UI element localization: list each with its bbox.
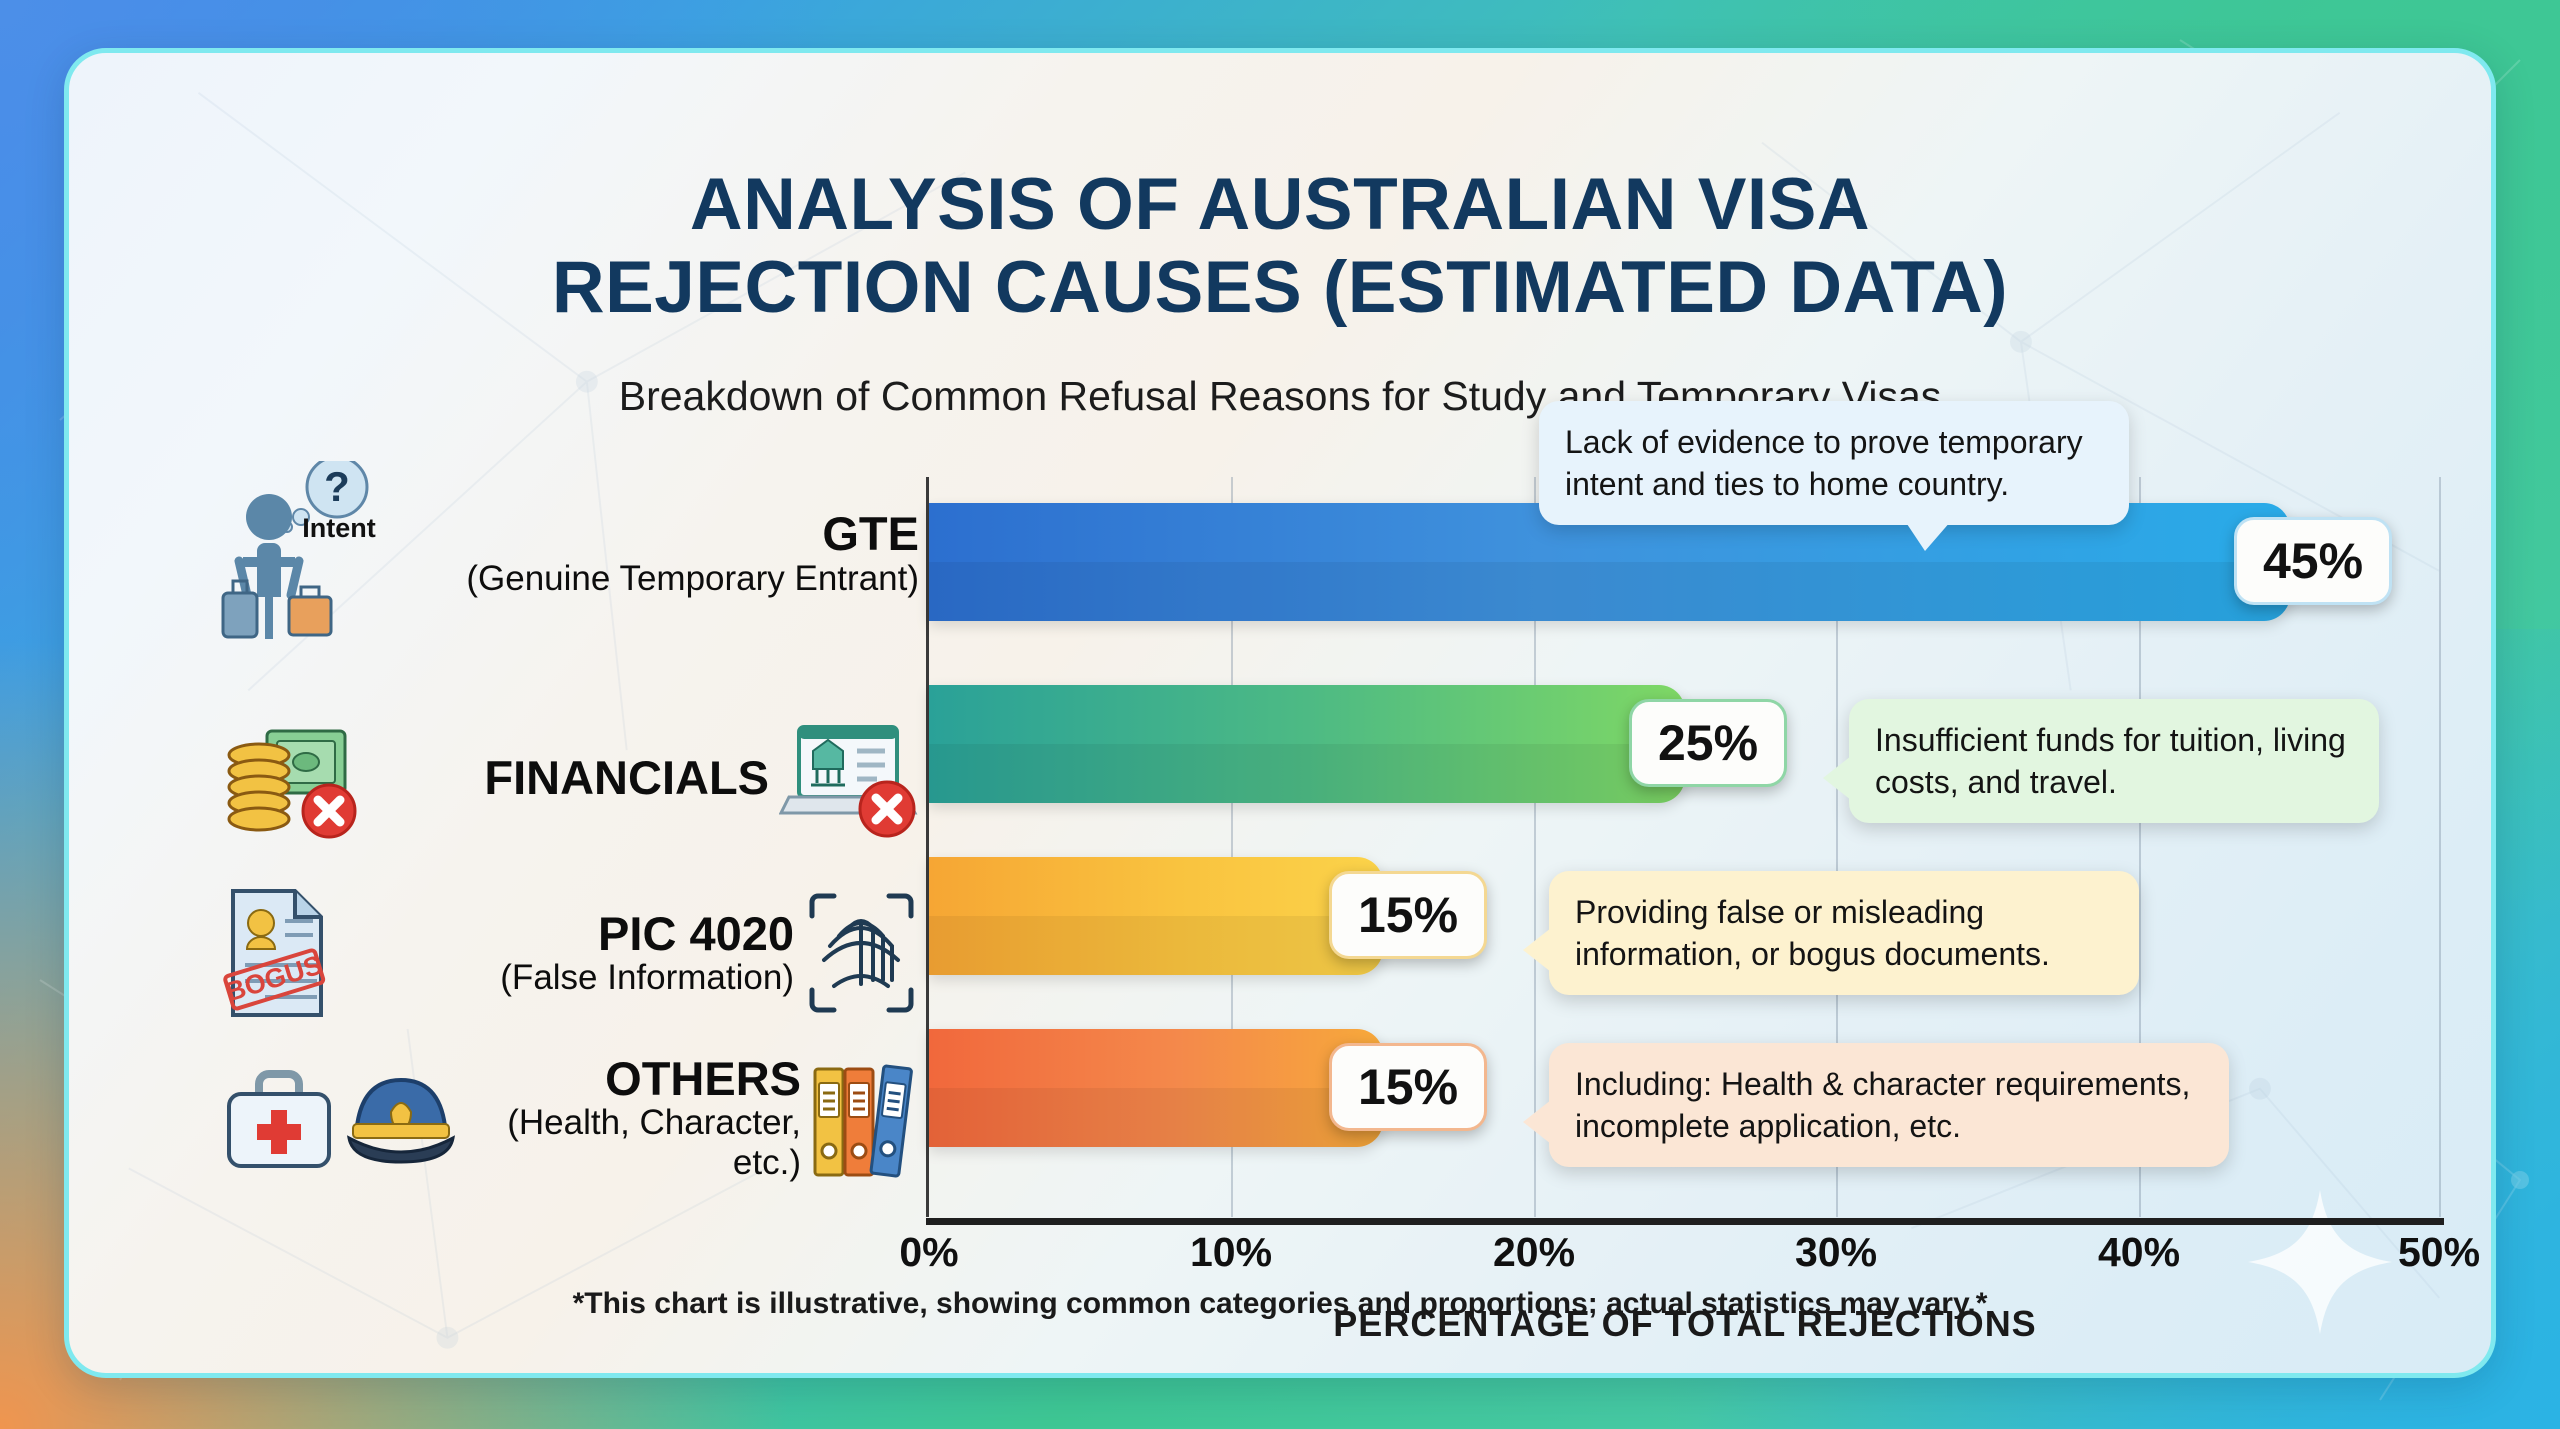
callout-others: Including: Health & character requiremen… [1549, 1043, 2229, 1167]
category-label-financials-main: FINANCIALS [359, 753, 769, 802]
category-label-pic4020: PIC 4020 (False Information) [344, 909, 804, 998]
chart-footnote: *This chart is illustrative, showing com… [69, 1287, 2491, 1321]
value-badge-pic4020: 15% [1329, 871, 1487, 959]
category-label-others-main: OTHERS [472, 1054, 801, 1103]
category-label-gte: GTE (Genuine Temporary Entrant) [419, 509, 919, 598]
chart-plot-area: 45% 25% 15% 15% Lack of evidence to prov… [929, 477, 2441, 1217]
bar-others [929, 1029, 1383, 1147]
callout-gte-tail [1905, 521, 1951, 551]
category-label-financials: FINANCIALS [359, 753, 779, 802]
callout-financials: Insufficient funds for tuition, living c… [1849, 699, 2379, 823]
svg-text:Intent: Intent [302, 513, 376, 543]
callout-pic4020-tail [1523, 928, 1551, 972]
category-row-financials: FINANCIALS [219, 713, 919, 843]
bogus-document-icon: BOGUS [219, 883, 344, 1023]
x-tick-40: 40% [2098, 1229, 2180, 1276]
gridline-50 [2439, 477, 2441, 1217]
category-label-gte-main: GTE [419, 509, 919, 558]
category-row-others: OTHERS (Health, Character, etc.) [219, 1053, 919, 1183]
category-label-gte-sub: (Genuine Temporary Entrant) [419, 559, 919, 598]
x-axis-line [926, 1218, 2444, 1225]
callout-others-tail [1523, 1100, 1551, 1144]
callout-gte-text: Lack of evidence to prove temporary inte… [1565, 424, 2083, 502]
money-rejected-icon [219, 713, 359, 843]
page-title: ANALYSIS OF AUSTRALIAN VISA REJECTION CA… [69, 163, 2491, 329]
infographic-card: ANALYSIS OF AUSTRALIAN VISA REJECTION CA… [64, 48, 2496, 1378]
callout-others-text: Including: Health & character requiremen… [1575, 1066, 2190, 1144]
x-tick-10: 10% [1190, 1229, 1272, 1276]
category-row-pic4020: BOGUS PIC 4020 (False Information) [219, 883, 919, 1023]
value-badge-financials: 25% [1629, 699, 1787, 787]
callout-pic4020: Providing false or misleading informatio… [1549, 871, 2139, 995]
category-label-others: OTHERS (Health, Character, etc.) [464, 1054, 809, 1182]
x-tick-20: 20% [1493, 1229, 1575, 1276]
category-label-pic4020-sub: (False Information) [344, 958, 794, 997]
x-tick-0: 0% [899, 1229, 958, 1276]
callout-gte: Lack of evidence to prove temporary inte… [1539, 401, 2129, 525]
traveler-intent-icon: ? Intent [219, 461, 419, 646]
binders-icon [809, 1053, 919, 1183]
bar-financials [929, 685, 1685, 803]
bank-statement-rejected-icon [779, 713, 919, 843]
value-badge-others: 15% [1329, 1043, 1487, 1131]
bar-pic4020 [929, 857, 1383, 975]
x-tick-30: 30% [1795, 1229, 1877, 1276]
category-row-gte: ? Intent GTE (Genuine Temporary Entrant) [219, 461, 919, 646]
callout-financials-text: Insufficient funds for tuition, living c… [1875, 722, 2346, 800]
page-title-line-2: REJECTION CAUSES (ESTIMATED DATA) [69, 246, 2491, 329]
medical-kit-icon [219, 1058, 339, 1178]
category-label-pic4020-main: PIC 4020 [344, 909, 794, 958]
callout-pic4020-text: Providing false or misleading informatio… [1575, 894, 2050, 972]
category-label-others-sub: (Health, Character, etc.) [472, 1103, 801, 1181]
value-badge-gte: 45% [2234, 517, 2392, 605]
fingerprint-scan-icon [804, 888, 919, 1018]
callout-financials-tail [1823, 756, 1851, 800]
svg-text:?: ? [324, 463, 350, 510]
page-title-line-1: ANALYSIS OF AUSTRALIAN VISA [69, 163, 2491, 246]
x-tick-50: 50% [2398, 1229, 2480, 1276]
police-cap-icon [339, 1058, 464, 1178]
